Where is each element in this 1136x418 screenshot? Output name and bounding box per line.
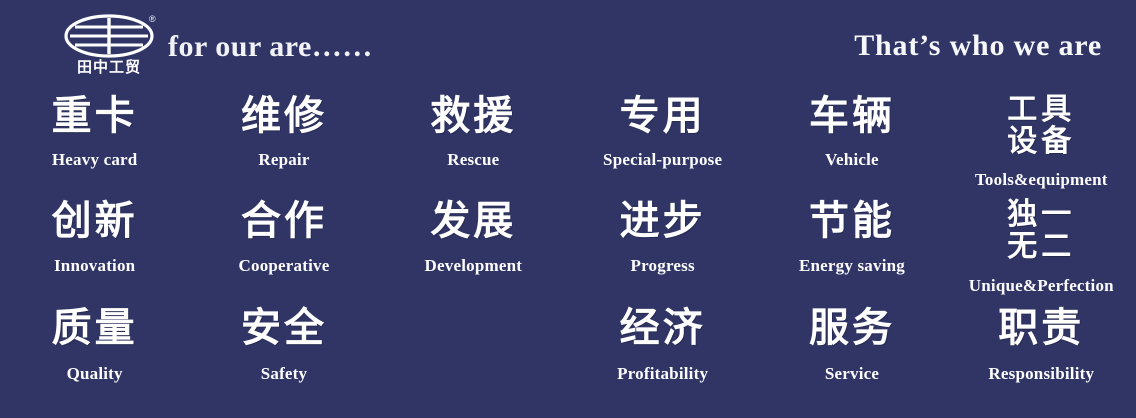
- company-logo: ® 田中工贸: [63, 14, 159, 78]
- value-label-cn: 车辆: [759, 94, 944, 138]
- registered-trademark-icon: ®: [149, 15, 156, 24]
- value-label-en: Responsibility: [949, 364, 1134, 384]
- company-name-cn: 田中工贸: [63, 58, 155, 76]
- value-cell: 节能Energy saving: [757, 191, 946, 276]
- tagline-right: That’s who we are: [854, 29, 1102, 63]
- value-label-cn: 职责: [949, 306, 1134, 350]
- value-label-cn: 工具设备: [949, 94, 1134, 158]
- value-cell: [379, 296, 568, 330]
- value-label-en: Service: [759, 364, 944, 384]
- value-cell: 维修Repair: [189, 88, 378, 170]
- value-cell: 车辆Vehicle: [757, 88, 946, 170]
- company-ellipse-logo: [63, 14, 159, 58]
- value-label-en: Vehicle: [759, 150, 944, 170]
- value-cell: 工具设备Tools&equipment: [947, 88, 1136, 190]
- value-cell: 发展Development: [379, 191, 568, 276]
- value-cell: 安全Safety: [189, 296, 378, 384]
- values-row: 质量Quality安全Safety 经济Profitability服务Servi…: [0, 296, 1136, 406]
- value-label-en: Rescue: [381, 150, 566, 170]
- value-label-cn: 重卡: [2, 94, 187, 138]
- values-grid: 重卡Heavy card维修Repair救援Rescue专用Special-pu…: [0, 88, 1136, 418]
- value-label-cn: 独一无二: [949, 199, 1134, 263]
- values-row: 重卡Heavy card维修Repair救援Rescue专用Special-pu…: [0, 88, 1136, 191]
- value-label-cn: 合作: [191, 199, 376, 243]
- value-cell: 合作Cooperative: [189, 191, 378, 276]
- value-label-en: Energy saving: [759, 256, 944, 276]
- value-cell: 重卡Heavy card: [0, 88, 189, 170]
- value-label-en: Quality: [2, 364, 187, 384]
- value-cell: 独一无二Unique&Perfection: [947, 191, 1136, 296]
- value-label-cn: 质量: [2, 306, 187, 350]
- value-label-cn: 服务: [759, 306, 944, 350]
- value-label-cn: 进步: [570, 199, 755, 243]
- value-label-cn: 发展: [381, 199, 566, 243]
- value-label-en: Repair: [191, 150, 376, 170]
- value-label-en: Special-purpose: [570, 150, 755, 170]
- value-label-cn: 经济: [570, 306, 755, 350]
- value-label-cn: 创新: [2, 199, 187, 243]
- value-label-en: Cooperative: [191, 256, 376, 276]
- value-cell: 经济Profitability: [568, 296, 757, 384]
- value-label-cn: 救援: [381, 94, 566, 138]
- value-label-cn: 维修: [191, 94, 376, 138]
- value-label-en: Development: [381, 256, 566, 276]
- value-cell: 服务Service: [757, 296, 946, 384]
- value-label-en: Heavy card: [2, 150, 187, 170]
- value-label-en: Tools&equipment: [949, 170, 1134, 190]
- value-cell: 救援Rescue: [379, 88, 568, 170]
- tagline-left: for our are……: [168, 30, 373, 64]
- banner-header: ® 田中工贸 for our are…… That’s who we are: [0, 0, 1136, 88]
- value-label-en: Progress: [570, 256, 755, 276]
- value-cell: 进步Progress: [568, 191, 757, 276]
- value-label-en: Unique&Perfection: [949, 276, 1134, 296]
- value-label-en: Profitability: [570, 364, 755, 384]
- value-label-cn: 节能: [759, 199, 944, 243]
- value-cell: 创新Innovation: [0, 191, 189, 276]
- values-row: 创新Innovation合作Cooperative发展Development进步…: [0, 191, 1136, 296]
- value-label-cn: 专用: [570, 94, 755, 138]
- value-label-en: Safety: [191, 364, 376, 384]
- value-cell: 职责Responsibility: [947, 296, 1136, 384]
- value-cell: 专用Special-purpose: [568, 88, 757, 170]
- value-cell: 质量Quality: [0, 296, 189, 384]
- values-banner: ® 田中工贸 for our are…… That’s who we are 重…: [0, 0, 1136, 418]
- value-label-en: Innovation: [2, 256, 187, 276]
- value-label-cn: 安全: [191, 306, 376, 350]
